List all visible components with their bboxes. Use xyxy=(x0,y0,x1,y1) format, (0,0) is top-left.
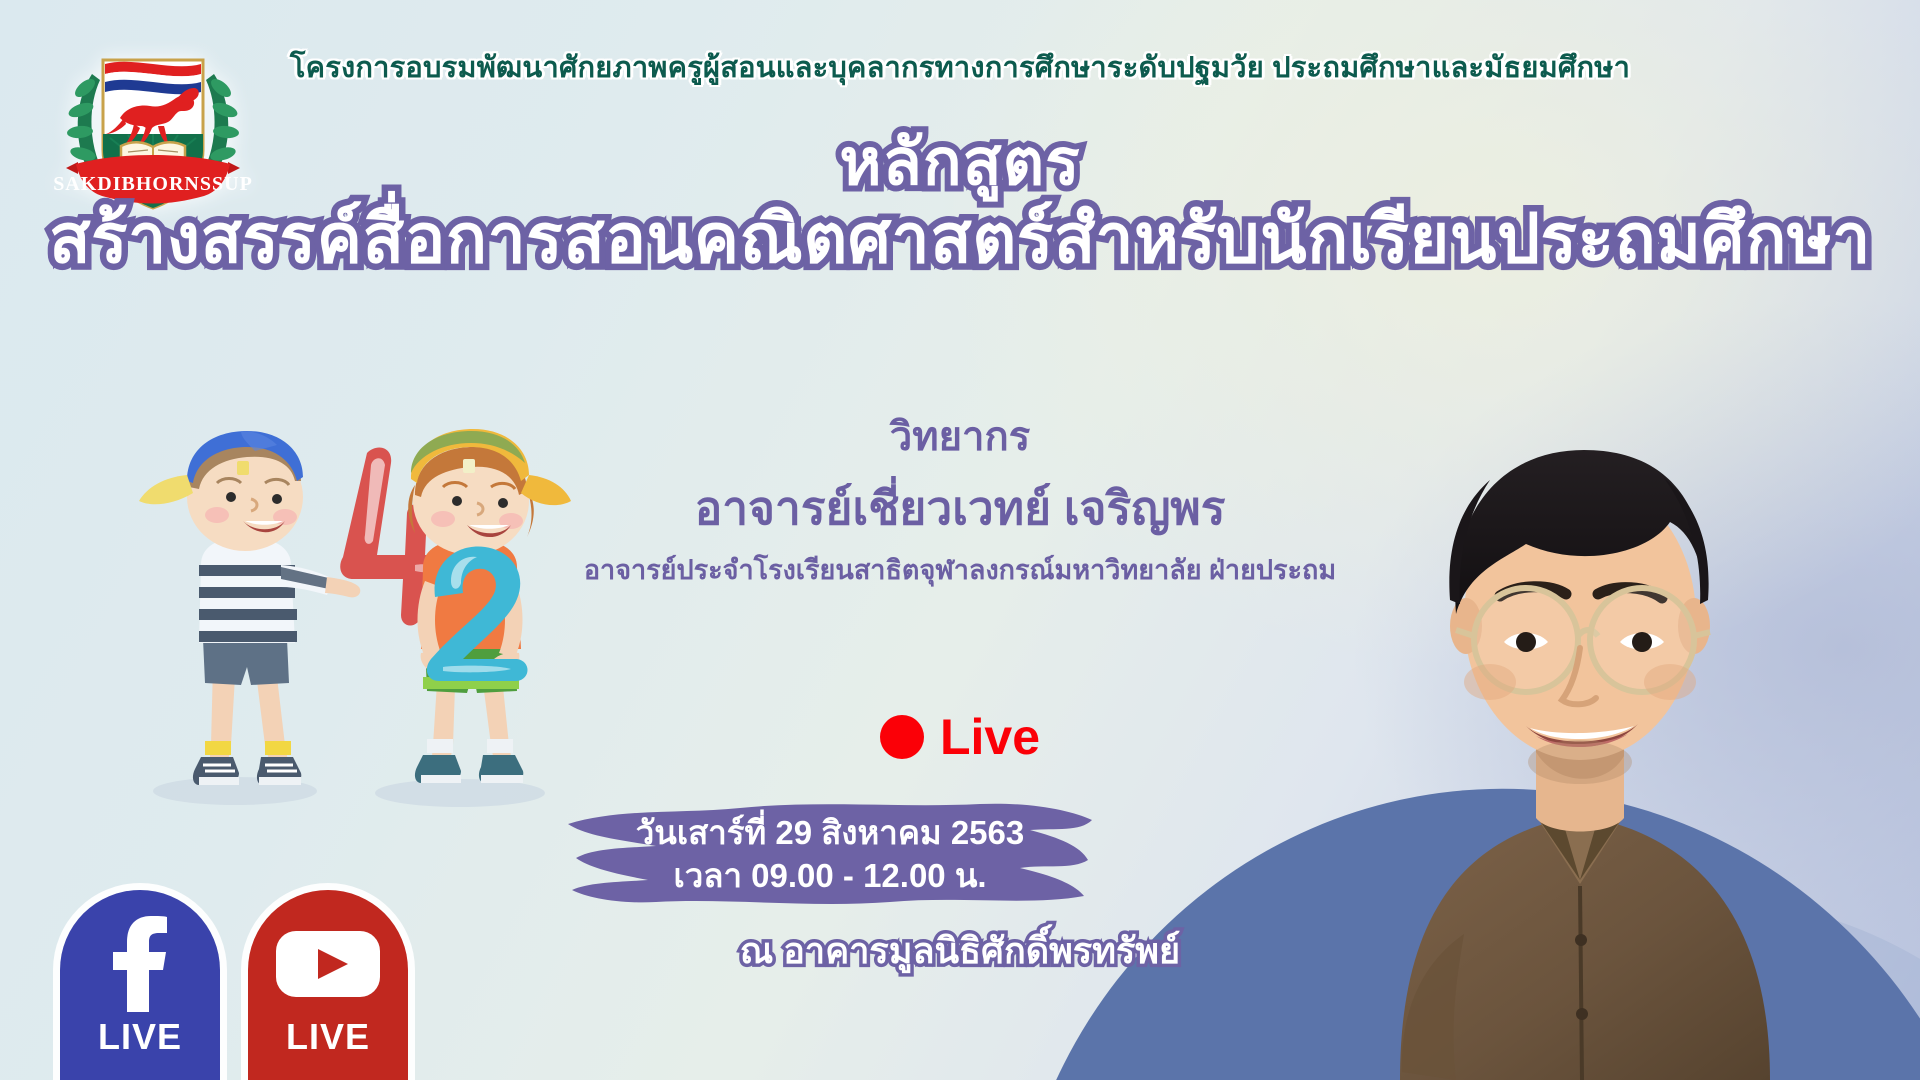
facebook-live-label: LIVE xyxy=(98,1016,182,1058)
event-poster: SAKDIBHORNSSUP โครงการอบรมพัฒนาศักยภาพคร… xyxy=(0,0,1920,1080)
facebook-icon xyxy=(105,912,175,1016)
event-date: วันเสาร์ที่ 29 สิงหาคม 2563 xyxy=(636,812,1025,853)
record-dot-icon xyxy=(880,715,924,759)
youtube-icon xyxy=(274,912,382,1016)
youtube-live-label: LIVE xyxy=(286,1016,370,1058)
live-label: Live xyxy=(940,712,1040,762)
schedule-banner: วันเสาร์ที่ 29 สิงหาคม 2563 เวลา 09.00 -… xyxy=(560,798,1100,910)
title-line-2: สร้างสรรค์สื่อการสอนคณิตศาสตร์สำหรับนักเ… xyxy=(0,203,1920,276)
title-line-1: หลักสูตร xyxy=(0,128,1920,197)
social-live-buttons: LIVE LIVE xyxy=(60,890,408,1080)
speaker-portrait-photo xyxy=(1250,300,1890,1080)
page-title: หลักสูตร สร้างสรรค์สื่อการสอนคณิตศาสตร์ส… xyxy=(0,128,1920,277)
facebook-live-button[interactable]: LIVE xyxy=(60,890,220,1080)
event-time: เวลา 09.00 - 12.00 น. xyxy=(673,855,986,896)
program-banner-text: โครงการอบรมพัฒนาศักยภาพครูผู้สอนและบุคลา… xyxy=(0,44,1920,90)
youtube-live-button[interactable]: LIVE xyxy=(248,890,408,1080)
